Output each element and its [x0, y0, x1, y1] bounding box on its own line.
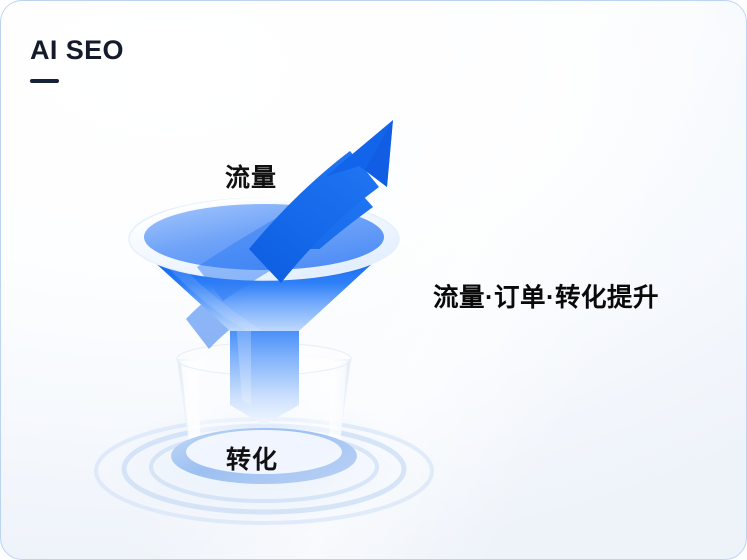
- title-block: AI SEO: [30, 37, 124, 83]
- page-title: AI SEO: [30, 37, 124, 64]
- slide-canvas: AI SEO 流量·订单·转化提升: [0, 0, 747, 560]
- label-conversion: 转化: [226, 440, 278, 476]
- title-underline-rule: [30, 79, 59, 83]
- funnel-stem: [230, 319, 299, 425]
- tagline-text: 流量·订单·转化提升: [433, 277, 659, 314]
- label-traffic: 流量: [225, 158, 277, 194]
